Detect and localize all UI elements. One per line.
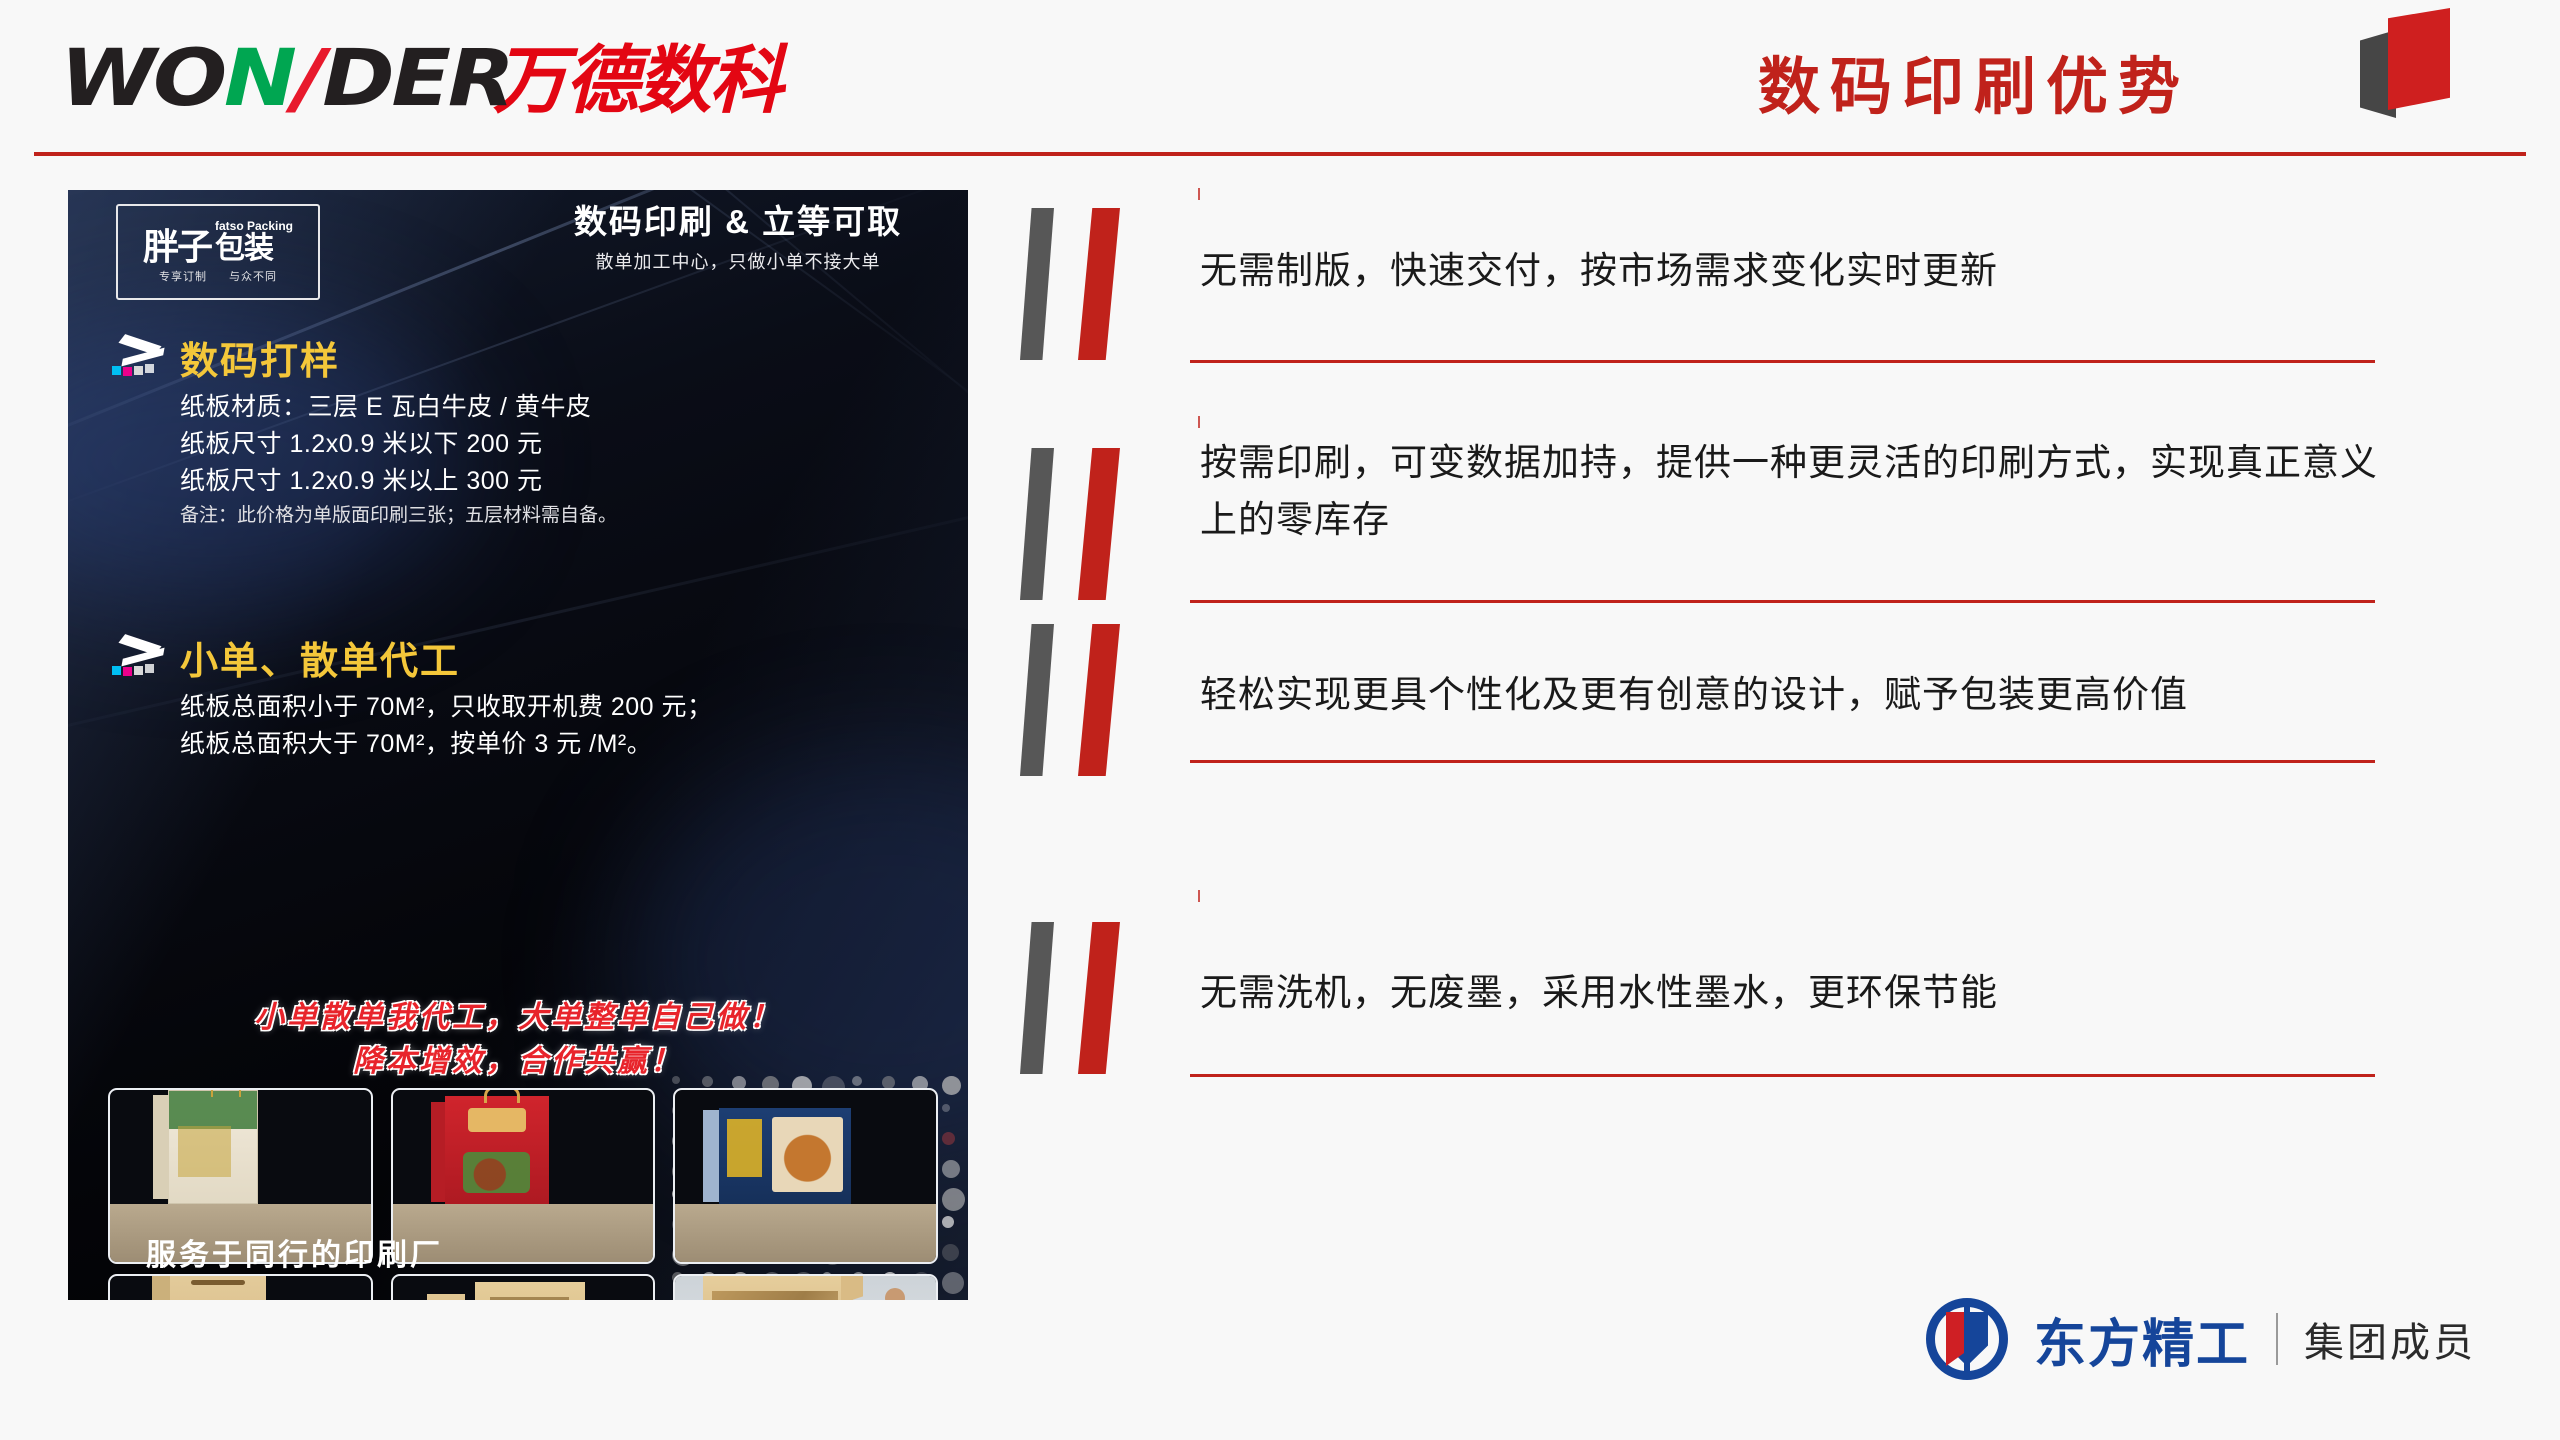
- chevron-marker-icon: [1010, 448, 1190, 608]
- section-title: 小单、散单代工: [180, 630, 460, 685]
- page-title: 数码印刷优势: [1758, 36, 2190, 126]
- wonder-wordmark: WON/DER: [60, 40, 512, 118]
- wonder-logo: WON/DER 万德数科: [60, 40, 781, 118]
- section-line: 纸板总面积小于 70M²，只收取开机费 200 元；: [180, 689, 950, 726]
- chevron-arrow-icon: [110, 336, 166, 380]
- product-photo: [391, 1274, 656, 1300]
- brand-fatso-en: fatso Packing: [215, 220, 293, 232]
- product-photo: [673, 1274, 938, 1300]
- brand-fatso-cn: 胖子: [143, 230, 211, 264]
- brand-tagline-right: 与众不同: [229, 268, 277, 284]
- advantage-item: 轻松实现更具个性化及更有创意的设计，赋予包装更高价值: [1010, 640, 2430, 860]
- advantages-list: 无需制版，快速交付，按市场需求变化实时更新 按需印刷，可变数据加持，提供一种更灵…: [1010, 200, 2430, 1080]
- poster-footer-text: 服务于同行的印刷厂: [146, 1230, 443, 1274]
- slide-header: WON/DER 万德数科 数码印刷优势: [0, 0, 2560, 160]
- advantage-item: 无需制版，快速交付，按市场需求变化实时更新: [1010, 200, 2430, 420]
- poster-section-small-orders: 小单、散单代工 纸板总面积小于 70M²，只收取开机费 200 元； 纸板总面积…: [110, 630, 950, 763]
- wonder-logo-chinese: 万德数科: [493, 44, 781, 118]
- chevron-arrow-icon: [110, 636, 166, 680]
- chevron-marker-icon: [1010, 922, 1190, 1082]
- brand-packaging-cn: 包装: [215, 234, 273, 264]
- wonder-wo: WO: [60, 34, 224, 124]
- advantage-text: 无需制版，快速交付，按市场需求变化实时更新: [1200, 242, 2380, 299]
- wonder-n-green: N: [224, 34, 294, 124]
- footer-brand-name: 东方精工: [2034, 1302, 2250, 1377]
- slide-root: WON/DER 万德数科 数码印刷优势 胖子 fatso Packing 包装: [0, 0, 2560, 1440]
- product-photo: [673, 1088, 938, 1264]
- poster-top-band: 胖子 fatso Packing 包装 专享订制 与众不同 数码印刷 & 立等可…: [68, 190, 968, 308]
- footer-divider: [2276, 1313, 2278, 1365]
- advantage-text: 轻松实现更具个性化及更有创意的设计，赋予包装更高价值: [1200, 666, 2380, 723]
- circle-shield-icon: [1926, 1298, 2008, 1380]
- slogan-line-1: 小单散单我代工，大单整单自己做！: [68, 996, 968, 1040]
- poster-subheadline: 散单加工中心，只做小单不接大单: [538, 248, 938, 274]
- corner-decoration-icon: [2360, 8, 2455, 118]
- dongfang-jingong-logo: 东方精工 集团成员: [1926, 1298, 2476, 1380]
- chevron-marker-icon: [1010, 624, 1190, 784]
- poster-section-digital-proofing: 数码打样 纸板材质：三层 E 瓦白牛皮 / 黄牛皮 纸板尺寸 1.2x0.9 米…: [110, 330, 950, 531]
- header-divider: [34, 152, 2526, 156]
- advantage-item: 按需印刷，可变数据加持，提供一种更灵活的印刷方式，实现真正意义上的零库存: [1010, 420, 2430, 640]
- section-line: 纸板尺寸 1.2x0.9 米以下 200 元: [180, 426, 950, 463]
- wonder-slash-red: /: [294, 34, 323, 124]
- chevron-marker-icon: [1010, 208, 1190, 368]
- poster-headline: 数码印刷 & 立等可取: [538, 202, 938, 242]
- section-line: 纸板尺寸 1.2x0.9 米以上 300 元: [180, 463, 950, 500]
- advantage-item: 无需洗机，无废墨，采用水性墨水，更环保节能: [1010, 860, 2430, 1080]
- wonder-der: DER: [322, 34, 511, 124]
- section-line: 纸板总面积大于 70M²，按单价 3 元 /M²。: [180, 726, 950, 763]
- footer-member-label: 集团成员: [2304, 1310, 2476, 1368]
- brand-tagline-left: 专享订制: [159, 268, 207, 284]
- poster-headline-group: 数码印刷 & 立等可取 散单加工中心，只做小单不接大单: [538, 202, 938, 274]
- product-photo: [108, 1274, 373, 1300]
- section-note: 备注：此价格为单版面印刷三张；五层材料需自备。: [180, 502, 950, 531]
- advantage-text: 按需印刷，可变数据加持，提供一种更灵活的印刷方式，实现真正意义上的零库存: [1200, 434, 2380, 549]
- section-title: 数码打样: [180, 330, 340, 385]
- poster-image: 胖子 fatso Packing 包装 专享订制 与众不同 数码印刷 & 立等可…: [68, 190, 968, 1300]
- section-line: 纸板材质：三层 E 瓦白牛皮 / 黄牛皮: [180, 389, 950, 426]
- advantage-text: 无需洗机，无废墨，采用水性墨水，更环保节能: [1200, 964, 2380, 1021]
- fatso-brand-logo: 胖子 fatso Packing 包装 专享订制 与众不同: [116, 204, 320, 300]
